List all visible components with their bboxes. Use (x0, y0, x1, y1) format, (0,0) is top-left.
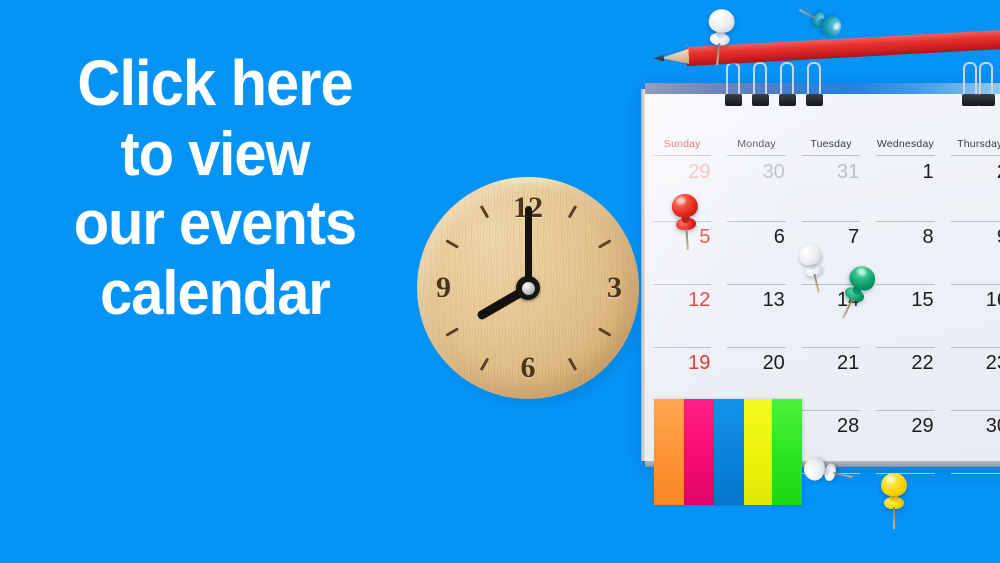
day-number-5[interactable]: 5 (699, 226, 710, 249)
clock-tick-10 (445, 239, 459, 249)
calendar-day-cell[interactable]: 15 (868, 284, 942, 347)
weekday-underline (951, 155, 1000, 156)
pin-gloss (714, 12, 724, 20)
clock-tick-4 (597, 327, 611, 337)
day-row-rule (802, 221, 860, 222)
blue-tab[interactable] (714, 399, 745, 505)
spiral-ring-4 (963, 62, 977, 102)
day-number-19[interactable]: 19 (688, 352, 710, 375)
clock-numeral-3: 3 (607, 273, 622, 303)
day-row-rule (727, 284, 785, 285)
day-row-rule (876, 410, 934, 411)
calendar-week-row: 1213141516 (645, 284, 1000, 347)
spiral-ring-3 (807, 62, 821, 102)
pencil-body (685, 29, 1000, 66)
pencil-wood-cone (661, 49, 690, 65)
day-number-29[interactable]: 29 (911, 415, 933, 438)
pin-gloss (802, 248, 811, 256)
clock-center-pin (522, 282, 535, 295)
calendar-day-cell[interactable]: 23 (943, 347, 1000, 410)
calendar-day-cell[interactable]: 8 (868, 221, 942, 284)
day-row-rule (876, 347, 934, 348)
day-row-rule (951, 473, 1000, 474)
calendar-day-cell (868, 473, 942, 475)
calendar-day-cell[interactable]: 2 (943, 158, 1000, 221)
day-row-rule (727, 221, 785, 222)
day-row-rule (951, 410, 1000, 411)
day-row-rule (727, 347, 785, 348)
spiral-ring-2 (780, 62, 794, 102)
weekday-label-tuesday: Tuesday (794, 138, 868, 150)
clock-tick-2 (597, 239, 611, 249)
spiral-ring-0 (726, 62, 740, 102)
spiral-ring-5 (979, 62, 993, 102)
calendar-week-row: 56789 (645, 221, 1000, 284)
calendar-day-cell[interactable]: 22 (868, 347, 942, 410)
day-row-rule (876, 221, 934, 222)
day-row-rule (653, 347, 711, 348)
calendar-day-cell[interactable]: 6 (719, 221, 793, 284)
clock-tick-5 (567, 357, 577, 371)
calendar-week-row: 29303112 (645, 158, 1000, 221)
day-number-8[interactable]: 8 (923, 226, 934, 249)
page-title: Click here to view our events calendar (15, 48, 415, 328)
day-number-30[interactable]: 30 (986, 415, 1000, 438)
day-row-rule (951, 347, 1000, 348)
headline-line-3: our events (15, 189, 415, 258)
yellow-tab[interactable] (744, 399, 775, 505)
pin-gloss (856, 267, 867, 277)
day-number-31[interactable]: 31 (837, 161, 859, 184)
day-number-15[interactable]: 15 (911, 289, 933, 312)
day-number-13[interactable]: 13 (763, 289, 785, 312)
pin-head (708, 8, 736, 34)
weekday-underline (876, 155, 934, 156)
weekday-underline (802, 155, 860, 156)
wooden-desk-clock[interactable]: 12 3 6 9 (417, 177, 643, 403)
calendar-day-cell (943, 473, 1000, 475)
day-number-22[interactable]: 22 (911, 352, 933, 375)
pin-head (881, 473, 907, 496)
day-number-7[interactable]: 7 (848, 226, 859, 249)
day-number-28[interactable]: 28 (837, 415, 859, 438)
clock-rim-highlight (435, 177, 621, 187)
pin-gloss (832, 22, 841, 31)
weekday-label-thursday: Thursday (943, 138, 1000, 150)
clock-tick-8 (445, 327, 459, 337)
clock-face: 12 3 6 9 (417, 177, 639, 399)
day-number-12[interactable]: 12 (688, 289, 710, 312)
banner-canvas[interactable]: Click here to view our events calendar S… (0, 0, 1000, 563)
calendar-header-band (645, 83, 1000, 94)
spiral-ring-1 (753, 62, 767, 102)
day-row-rule (951, 221, 1000, 222)
clock-tick-11 (479, 205, 489, 219)
pin-gloss (886, 476, 895, 483)
calendar-day-cell[interactable]: 21 (794, 347, 868, 410)
day-row-rule (802, 410, 860, 411)
weekday-underline (653, 155, 711, 156)
day-number-1[interactable]: 1 (923, 161, 934, 184)
weekday-label-monday: Monday (719, 138, 793, 150)
day-number-6[interactable]: 6 (774, 226, 785, 249)
pin-gloss (805, 466, 813, 475)
pin-gloss (676, 197, 685, 205)
calendar-day-cell[interactable]: 30 (719, 158, 793, 221)
clock-tick-1 (567, 205, 577, 219)
headline-line-2: to view (15, 120, 415, 189)
day-number-21[interactable]: 21 (837, 352, 859, 375)
calendar-day-cell[interactable]: 13 (719, 284, 793, 347)
headline-line-1: Click here (15, 48, 415, 120)
calendar-day-cell[interactable]: 29 (868, 410, 942, 473)
calendar-day-cell[interactable]: 16 (943, 284, 1000, 347)
calendar-day-cell[interactable]: 5 (645, 221, 719, 284)
day-row-rule (802, 347, 860, 348)
calendar-day-cell[interactable]: 9 (943, 221, 1000, 284)
day-row-rule (876, 284, 934, 285)
day-number-20[interactable]: 20 (763, 352, 785, 375)
orange-tab[interactable] (654, 399, 685, 505)
clock-numeral-6: 6 (521, 353, 536, 383)
weekday-underline (727, 155, 785, 156)
day-row-rule (876, 473, 934, 474)
calendar-day-cell[interactable]: 30 (943, 410, 1000, 473)
sticky-note-tabs[interactable] (654, 399, 802, 505)
calendar-day-cell[interactable]: 12 (645, 284, 719, 347)
weekday-label-sunday: Sunday (645, 138, 719, 150)
headline-line-4: calendar (15, 259, 415, 328)
day-number-16[interactable]: 16 (986, 289, 1000, 312)
pencil-graphite-tip (653, 54, 664, 62)
weekday-label-wednesday: Wednesday (868, 138, 942, 150)
day-row-rule (951, 284, 1000, 285)
day-row-rule (653, 284, 711, 285)
pin-needle (799, 9, 816, 19)
day-number-23[interactable]: 23 (986, 352, 1000, 375)
calendar-day-cell[interactable]: 1 (868, 158, 942, 221)
calendar-day-cell[interactable]: 31 (794, 158, 868, 221)
clock-numeral-9: 9 (436, 273, 451, 303)
pin-needle (893, 507, 895, 529)
day-number-29[interactable]: 29 (688, 161, 710, 184)
green-tab[interactable] (772, 399, 802, 505)
pin-head (671, 193, 699, 218)
day-number-30[interactable]: 30 (763, 161, 785, 184)
clock-tick-7 (479, 357, 489, 371)
pink-tab[interactable] (684, 399, 715, 505)
